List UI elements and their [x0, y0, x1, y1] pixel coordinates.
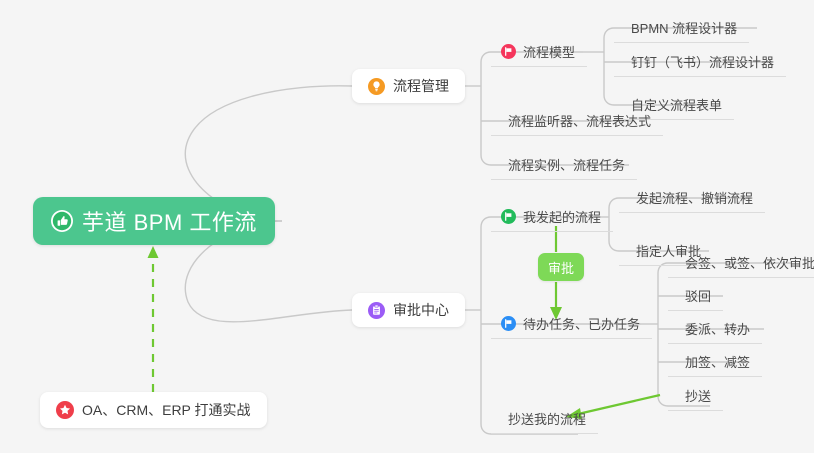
node-dingtalk-feishu-designer[interactable]: 钉钉（飞书）流程设计器 — [614, 47, 786, 77]
node-label: 流程实例、流程任务 — [508, 155, 625, 174]
root-label: 芋道 BPM 工作流 — [82, 205, 257, 237]
node-label: 发起流程、撤销流程 — [636, 188, 753, 207]
node-label: 流程管理 — [393, 76, 449, 96]
clipboard-icon — [368, 302, 385, 319]
node-label: 抄送 — [685, 386, 711, 405]
node-instance-task[interactable]: 流程实例、流程任务 — [491, 150, 637, 180]
node-bpmn-designer[interactable]: BPMN 流程设计器 — [614, 13, 749, 43]
flag-icon — [501, 316, 516, 331]
node-label: 流程模型 — [523, 42, 575, 61]
thumbs-up-icon — [51, 210, 73, 232]
root-node[interactable]: 芋道 BPM 工作流 — [33, 197, 275, 245]
node-my-initiated[interactable]: 我发起的流程 — [491, 202, 613, 232]
approval-badge: 审批 — [538, 253, 584, 281]
node-cc-my-process[interactable]: 抄送我的流程 — [491, 404, 598, 434]
node-multi-sign[interactable]: 会签、或签、依次审批 — [668, 248, 814, 278]
node-process-model[interactable]: 流程模型 — [491, 37, 587, 67]
node-add-remove-sign[interactable]: 加签、减签 — [668, 347, 762, 377]
node-todo-done[interactable]: 待办任务、已办任务 — [491, 309, 652, 339]
node-start-cancel[interactable]: 发起流程、撤销流程 — [619, 183, 765, 213]
flag-icon — [501, 44, 516, 59]
dashed-arrow-head — [148, 246, 159, 258]
bottom-note-label: OA、CRM、ERP 打通实战 — [82, 400, 251, 420]
node-reject[interactable]: 驳回 — [668, 281, 723, 311]
node-cc[interactable]: 抄送 — [668, 381, 723, 411]
star-icon — [56, 401, 74, 419]
node-label: 委派、转办 — [685, 319, 750, 338]
bottom-note[interactable]: OA、CRM、ERP 打通实战 — [40, 392, 267, 428]
node-label: BPMN 流程设计器 — [631, 18, 737, 37]
node-listener-expression[interactable]: 流程监听器、流程表达式 — [491, 106, 663, 136]
node-label: 审批中心 — [393, 300, 449, 320]
node-label: 流程监听器、流程表达式 — [508, 111, 651, 130]
node-process-management[interactable]: 流程管理 — [352, 69, 465, 103]
node-label: 加签、减签 — [685, 352, 750, 371]
node-label: 待办任务、已办任务 — [523, 314, 640, 333]
lightbulb-icon — [368, 78, 385, 95]
node-label: 我发起的流程 — [523, 207, 601, 226]
node-label: 钉钉（飞书）流程设计器 — [631, 52, 774, 71]
node-label: 驳回 — [685, 286, 711, 305]
node-delegate-transfer[interactable]: 委派、转办 — [668, 314, 762, 344]
node-label: 抄送我的流程 — [508, 409, 586, 428]
node-label: 会签、或签、依次审批 — [685, 253, 814, 272]
approval-badge-label: 审批 — [548, 258, 574, 277]
flag-icon — [501, 209, 516, 224]
node-approval-center[interactable]: 审批中心 — [352, 293, 465, 327]
